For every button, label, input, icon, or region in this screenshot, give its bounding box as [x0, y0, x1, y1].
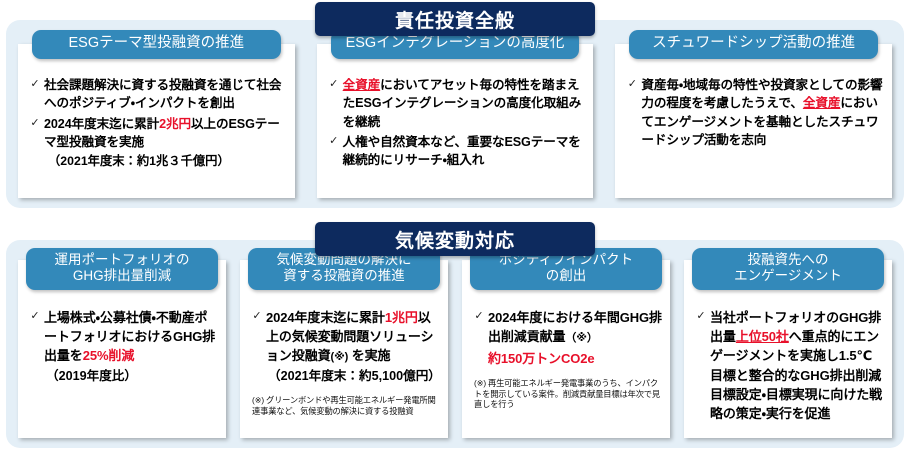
section-responsible-investment: 責任投資全般 ESGテーマ型投融資の推進✓社会課題解決に資する投融資を通じて社会…	[6, 20, 904, 208]
section-climate-change: 気候変動対応 運用ポートフォリオのGHG排出量削減✓上場株式・公募社債・不動産ポ…	[6, 240, 904, 448]
content-card: 運用ポートフォリオのGHG排出量削減✓上場株式・公募社債・不動産ポートフォリオに…	[18, 260, 226, 438]
card-footnote: (※) 再生可能エネルギー発電事業のうち、インパクトを開示している案件。削減貢献…	[474, 378, 660, 410]
section-header-title: 気候変動対応	[315, 222, 595, 256]
bullet-item: ✓社会課題解決に資する投融資を通じて社会へのポジティブ・インパクトを創出	[26, 76, 287, 113]
slide-root: 責任投資全般 ESGテーマ型投融資の推進✓社会課題解決に資する投融資を通じて社会…	[0, 0, 910, 453]
text-segment: 2024年度末迄に累計	[44, 117, 159, 131]
bullet-text: 社会課題解決に資する投融資を通じて社会へのポジティブ・インパクトを創出	[44, 76, 287, 113]
content-card: スチュワードシップ活動の推進✓資産毎・地域毎の特性や投資家としての影響力の程度を…	[615, 44, 892, 198]
checkmark-icon	[470, 349, 488, 350]
checkmark-icon: ✓	[325, 76, 343, 93]
text-segment: 全資産	[803, 96, 840, 110]
card-title: 投融資先へのエンゲージメント	[692, 248, 884, 290]
text-segment: 社会課題解決に資する投融資を通じて社会へのポジティブ・インパクトを創出	[44, 78, 281, 110]
checkmark-icon: ✓	[26, 115, 44, 132]
bullet-text: 人権や自然資本など、重要なESGテーマを継続的にリサーチ・組入れ	[343, 133, 586, 170]
bullet-item: ✓2024年度における年間GHG排出削減貢献量（※）	[470, 308, 662, 347]
bullet-item: ✓人権や自然資本など、重要なESGテーマを継続的にリサーチ・組入れ	[325, 133, 586, 170]
content-card: 投融資先へのエンゲージメント✓当社ポートフォリオのGHG排出量上位50社へ重点的…	[684, 260, 892, 438]
card-subnote: （2021年度末：約1兆３千億円）	[48, 153, 287, 170]
card-subnote: （2019年度比）	[46, 368, 218, 386]
text-segment: 2兆円	[159, 117, 191, 131]
text-segment: 全資産	[343, 78, 380, 92]
card-subnote: （2021年度末：約5,100億円）	[268, 368, 440, 386]
checkmark-icon: ✓	[248, 308, 266, 325]
text-segment: （※）	[565, 332, 597, 344]
bullet-text: 2024年度における年間GHG排出削減貢献量（※）	[488, 308, 662, 347]
bullet-item: ✓全資産においてアセット毎の特性を踏まえたESGインテグレーションの高度化取組み…	[325, 76, 586, 131]
card-title: ESGテーマ型投融資の推進	[32, 30, 281, 59]
text-segment: 25%削減	[83, 348, 135, 363]
bullet-text: 約150万トンCO2e	[488, 349, 662, 368]
bullet-item: ✓資産毎・地域毎の特性や投資家としての影響力の程度を考慮したうえで、全資産におい…	[623, 76, 884, 149]
checkmark-icon: ✓	[623, 76, 641, 93]
bullet-item: ✓2024年度末迄に累計2兆円以上のESGテーマ型投融資を実施	[26, 115, 287, 152]
card-title: スチュワードシップ活動の推進	[629, 30, 878, 59]
bullet-text: 当社ポートフォリオのGHG排出量上位50社へ重点的にエンゲージメントを実施し1.…	[710, 308, 884, 423]
section-header-title: 責任投資全般	[315, 2, 595, 36]
checkmark-icon: ✓	[692, 308, 710, 325]
text-segment: 2024年度末迄に累計	[266, 310, 385, 325]
bullet-item: ✓上場株式・公募社債・不動産ポートフォリオにおけるGHG排出量を25%削減	[26, 308, 218, 366]
content-card: ポジティブインパクトの創出✓2024年度における年間GHG排出削減貢献量（※）約…	[462, 260, 670, 438]
card-row-top: ESGテーマ型投融資の推進✓社会課題解決に資する投融資を通じて社会へのポジティブ…	[18, 44, 892, 198]
bullet-text: 資産毎・地域毎の特性や投資家としての影響力の程度を考慮したうえで、全資産において…	[641, 76, 884, 149]
checkmark-icon: ✓	[26, 76, 44, 93]
text-segment: 人権や自然資本など、重要なESGテーマを継続的にリサーチ・組入れ	[343, 135, 581, 167]
text-segment: 1兆円	[385, 310, 418, 325]
bullet-text: 2024年度末迄に累計1兆円以上の気候変動問題ソリューション投融資(※) を実施	[266, 308, 440, 366]
checkmark-icon: ✓	[325, 133, 343, 150]
bullet-text: 全資産においてアセット毎の特性を踏まえたESGインテグレーションの高度化取組みを…	[343, 76, 586, 131]
bullet-item: ✓当社ポートフォリオのGHG排出量上位50社へ重点的にエンゲージメントを実施し1…	[692, 308, 884, 423]
content-card: 気候変動問題の解決に資する投融資の推進✓2024年度末迄に累計1兆円以上の気候変…	[240, 260, 448, 438]
card-footnote: (※) グリーンボンドや再生可能エネルギー発電所関連事業など、気候変動の解決に資…	[252, 395, 438, 417]
checkmark-icon: ✓	[26, 308, 44, 325]
text-segment: (※)	[331, 351, 349, 363]
text-segment: 上位50社	[736, 329, 789, 344]
text-segment: 約150万トンCO2e	[488, 351, 595, 366]
bullet-text: 上場株式・公募社債・不動産ポートフォリオにおけるGHG排出量を25%削減	[44, 308, 218, 366]
card-title: 運用ポートフォリオのGHG排出量削減	[26, 248, 218, 290]
checkmark-icon: ✓	[470, 308, 488, 325]
card-row-bottom: 運用ポートフォリオのGHG排出量削減✓上場株式・公募社債・不動産ポートフォリオに…	[18, 260, 892, 438]
content-card: ESGテーマ型投融資の推進✓社会課題解決に資する投融資を通じて社会へのポジティブ…	[18, 44, 295, 198]
bullet-item: 約150万トンCO2e	[470, 349, 662, 368]
text-segment: を実施	[348, 348, 390, 363]
content-card: ESGインテグレーションの高度化✓全資産においてアセット毎の特性を踏まえたESG…	[317, 44, 594, 198]
bullet-item: ✓2024年度末迄に累計1兆円以上の気候変動問題ソリューション投融資(※) を実…	[248, 308, 440, 366]
bullet-text: 2024年度末迄に累計2兆円以上のESGテーマ型投融資を実施	[44, 115, 287, 152]
